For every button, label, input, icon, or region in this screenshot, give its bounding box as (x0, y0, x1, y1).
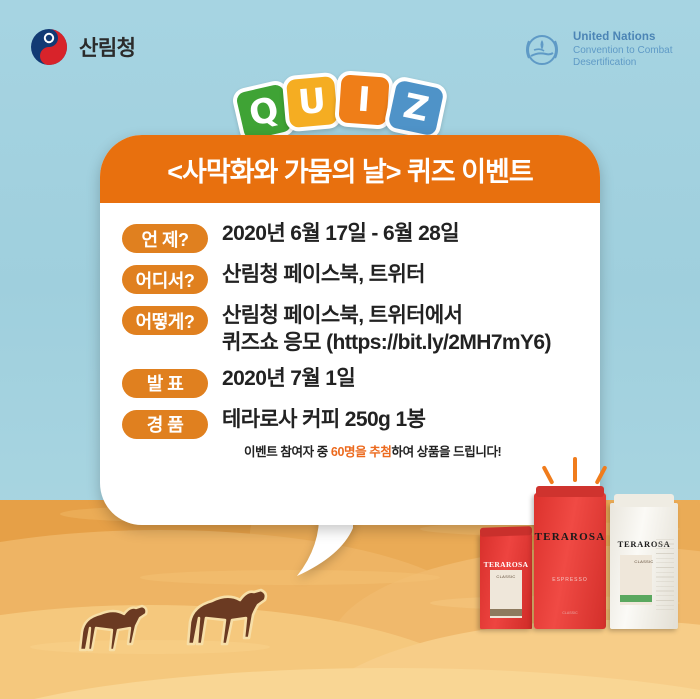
info-row-prize: 경 품 테라로사 커피 250g 1봉 (122, 407, 600, 439)
value-announcement: 2020년 7월 1일 (222, 366, 355, 393)
unccd-logo: United Nations Convention to Combat Dese… (520, 28, 673, 72)
value-how: 산림청 페이스북, 트위터에서 퀴즈쇼 응모 (https://bit.ly/2… (222, 303, 551, 357)
bag-brand-label: TERAROSA (480, 560, 532, 569)
bag-label-line-1: CLASSIC (534, 611, 606, 615)
info-rows: 언 제? 2020년 6월 17일 - 6월 28일 어디서? 산림청 페이스북… (100, 203, 600, 460)
value-how-line-1: 산림청 페이스북, 트위터에서 (222, 303, 551, 330)
page-title: <사막화와 가뭄의 날> 퀴즈 이벤트 (167, 150, 532, 189)
camel-large-icon (168, 578, 298, 662)
info-row-announcement: 발 표 2020년 7월 1일 (122, 366, 600, 398)
badge-how: 어떻게? (122, 306, 208, 335)
bag-side-text (656, 535, 674, 613)
sparkle-icon (573, 457, 577, 482)
coffee-bag-small-red: TERAROSA CLASSIC (480, 533, 532, 629)
bag-label-line-1: CLASSIC (480, 574, 532, 579)
unccd-wordmark: United Nations Convention to Combat Dese… (573, 31, 673, 68)
badge-announcement: 발 표 (122, 369, 208, 398)
value-when: 2020년 6월 17일 - 6월 28일 (222, 221, 459, 248)
value-prize: 테라로사 커피 250g 1봉 (222, 407, 425, 434)
quiz-tile-z: Z (383, 75, 449, 141)
bag-fold (614, 494, 674, 507)
forest-service-logo: 산림청 (30, 28, 135, 66)
info-row-how: 어떻게? 산림청 페이스북, 트위터에서 퀴즈쇼 응모 (https://bit… (122, 303, 600, 357)
quiz-tile-u: U (282, 72, 343, 133)
prize-note-prefix: 이벤트 참여자 중 (244, 445, 331, 459)
value-where: 산림청 페이스북, 트위터 (222, 262, 425, 289)
unccd-line-1: United Nations (573, 31, 673, 45)
bag-color-bar (620, 595, 652, 602)
sparkle-icon (542, 465, 555, 485)
bag-label-line-2: ESPRESSO (534, 577, 606, 583)
value-how-line-2[interactable]: 퀴즈쇼 응모 (https://bit.ly/2MH7mY6) (222, 330, 551, 357)
unccd-line-2: Convention to Combat (573, 45, 673, 57)
taegeuk-icon (30, 28, 68, 66)
bag-color-bar (490, 609, 522, 616)
unccd-emblem-icon (520, 28, 564, 72)
sparkle-icon (595, 465, 608, 485)
unccd-line-3: Desertification (573, 57, 673, 69)
info-row-where: 어디서? 산림청 페이스북, 트위터 (122, 262, 600, 294)
camel-small-icon (62, 592, 172, 664)
prize-note-highlight: 60명을 추첨 (331, 445, 392, 459)
bag-brand-label: TERAROSA (534, 531, 606, 543)
badge-where: 어디서? (122, 265, 208, 294)
coffee-bag-large-red: TERAROSA ESPRESSO CLASSIC (534, 493, 606, 629)
card-header: <사막화와 가뭄의 날> 퀴즈 이벤트 (100, 135, 600, 203)
prize-photo: TERAROSA CLASSIC TERAROSA ESPRESSO CLASS… (472, 455, 700, 630)
coffee-bag-cream: TERAROSA CLASSIC (610, 503, 678, 629)
info-row-when: 언 제? 2020년 6월 17일 - 6월 28일 (122, 221, 600, 253)
forest-service-name: 산림청 (79, 32, 135, 62)
bag-fold (480, 526, 532, 537)
poster-canvas: 산림청 United Nations Convention to Combat … (0, 0, 700, 699)
quiz-letter-tiles: Q U I Z (236, 68, 464, 140)
bag-fold (536, 486, 604, 497)
badge-prize: 경 품 (122, 410, 208, 439)
badge-when: 언 제? (122, 224, 208, 253)
